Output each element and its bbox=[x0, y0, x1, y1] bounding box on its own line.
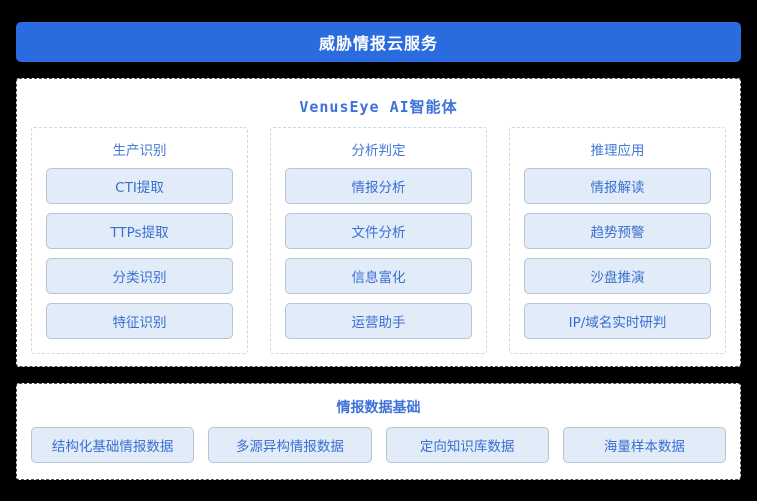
capability-item[interactable]: 情报分析 bbox=[285, 168, 472, 204]
agent-panel-title: VenusEye AI智能体 bbox=[31, 96, 726, 117]
column-items: 情报解读 趋势预警 沙盘推演 IP/域名实时研判 bbox=[524, 168, 711, 339]
capability-item[interactable]: TTPs提取 bbox=[46, 213, 233, 249]
capability-item[interactable]: 情报解读 bbox=[524, 168, 711, 204]
capability-item[interactable]: 运营助手 bbox=[285, 303, 472, 339]
header-banner: 威胁情报云服务 bbox=[16, 22, 741, 62]
capability-item[interactable]: 信息富化 bbox=[285, 258, 472, 294]
data-source-item[interactable]: 定向知识库数据 bbox=[386, 427, 549, 463]
capability-item[interactable]: 特征识别 bbox=[46, 303, 233, 339]
header-title: 威胁情报云服务 bbox=[319, 30, 438, 54]
column-title: 生产识别 bbox=[46, 139, 233, 159]
column-items: 情报分析 文件分析 信息富化 运营助手 bbox=[285, 168, 472, 339]
agent-columns: 生产识别 CTI提取 TTPs提取 分类识别 特征识别 分析判定 情报分析 文件… bbox=[31, 127, 726, 354]
capability-item[interactable]: CTI提取 bbox=[46, 168, 233, 204]
capability-item[interactable]: 沙盘推演 bbox=[524, 258, 711, 294]
capability-item[interactable]: 趋势预警 bbox=[524, 213, 711, 249]
column-items: CTI提取 TTPs提取 分类识别 特征识别 bbox=[46, 168, 233, 339]
data-foundation-title: 情报数据基础 bbox=[29, 397, 728, 417]
data-source-item[interactable]: 多源异构情报数据 bbox=[208, 427, 371, 463]
agent-column-reasoning: 推理应用 情报解读 趋势预警 沙盘推演 IP/域名实时研判 bbox=[509, 127, 726, 354]
capability-item[interactable]: 分类识别 bbox=[46, 258, 233, 294]
diagram-canvas: 威胁情报云服务 VenusEye AI智能体 生产识别 CTI提取 TTPs提取… bbox=[0, 0, 757, 501]
data-foundation-items: 结构化基础情报数据 多源异构情报数据 定向知识库数据 海量样本数据 bbox=[29, 427, 728, 463]
data-source-item[interactable]: 海量样本数据 bbox=[563, 427, 726, 463]
agent-column-analysis: 分析判定 情报分析 文件分析 信息富化 运营助手 bbox=[270, 127, 487, 354]
data-foundation-panel: 情报数据基础 结构化基础情报数据 多源异构情报数据 定向知识库数据 海量样本数据 bbox=[16, 383, 741, 480]
capability-item[interactable]: 文件分析 bbox=[285, 213, 472, 249]
agent-panel: VenusEye AI智能体 生产识别 CTI提取 TTPs提取 分类识别 特征… bbox=[16, 78, 741, 367]
column-title: 分析判定 bbox=[285, 139, 472, 159]
data-source-item[interactable]: 结构化基础情报数据 bbox=[31, 427, 194, 463]
capability-item[interactable]: IP/域名实时研判 bbox=[524, 303, 711, 339]
agent-column-production: 生产识别 CTI提取 TTPs提取 分类识别 特征识别 bbox=[31, 127, 248, 354]
column-title: 推理应用 bbox=[524, 139, 711, 159]
